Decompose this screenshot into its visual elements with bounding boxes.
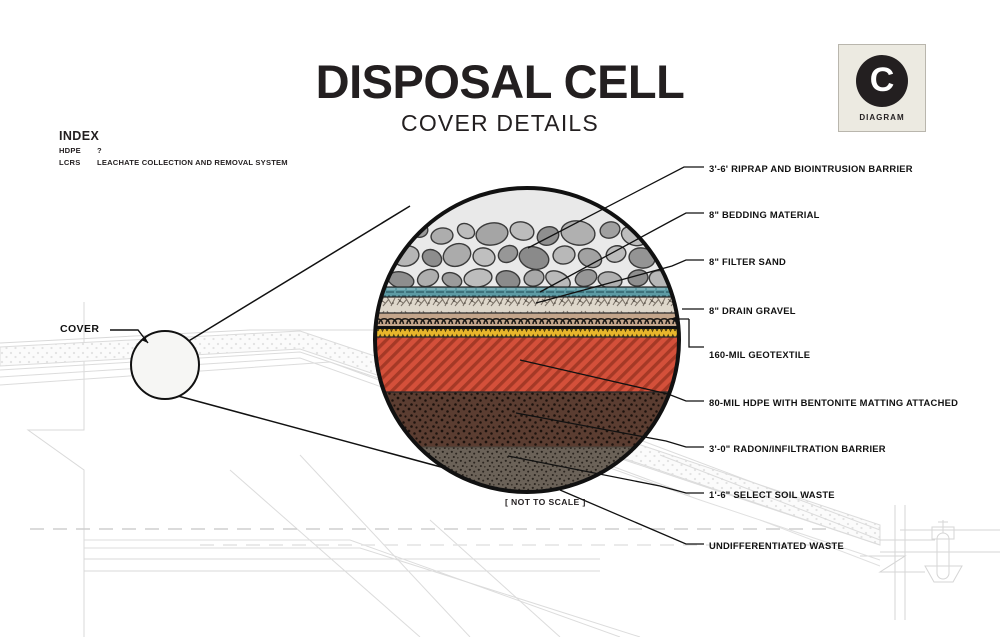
callout-select-soil-waste: 1'-6" SELECT SOIL WASTE <box>709 490 835 499</box>
callout-geotextile: 160-MIL GEOTEXTILE <box>709 350 810 359</box>
callout-undifferentiated-waste: UNDIFFERENTIATED WASTE <box>709 541 844 550</box>
cover-lens-circle <box>131 331 199 399</box>
not-to-scale-note: [ NOT TO SCALE ] <box>505 497 586 507</box>
cover-callout-label: COVER <box>60 323 99 335</box>
diagram-canvas: DISPOSAL CELL COVER DETAILS INDEX HDPE ?… <box>0 0 1000 637</box>
callout-hdpe-bentonite: 80-MIL HDPE WITH BENTONITE MATTING ATTAC… <box>709 398 958 407</box>
badge-caption: DIAGRAM <box>859 113 904 122</box>
callout-bedding-material: 8" BEDDING MATERIAL <box>709 210 820 219</box>
layer-filter-sand <box>370 297 684 313</box>
layer-hdpe-bentonite <box>370 337 684 392</box>
layer-bedding-material <box>370 287 684 297</box>
index-block: INDEX HDPE ? LCRS LEACHATE COLLECTION AN… <box>59 129 288 167</box>
layer-geotextile-bed <box>370 329 684 337</box>
index-abbr: LCRS <box>59 158 97 167</box>
cover-layer-stack <box>365 180 684 507</box>
callout-riprap: 3'-6' RIPRAP AND BIOINTRUSION BARRIER <box>709 164 913 173</box>
callout-radon-barrier: 3'-0" RADON/INFILTRATION BARRIER <box>709 444 886 453</box>
layer-radon-barrier <box>370 392 684 447</box>
index-abbr: HDPE <box>59 146 97 155</box>
layer-drain-gravel <box>370 313 684 326</box>
index-entry-lcrs: LCRS LEACHATE COLLECTION AND REMOVAL SYS… <box>59 158 288 167</box>
index-entry-hdpe: HDPE ? <box>59 146 288 155</box>
callout-filter-sand: 8" FILTER SAND <box>709 257 786 266</box>
index-definition: LEACHATE COLLECTION AND REMOVAL SYSTEM <box>97 158 288 167</box>
badge-letter-icon: C <box>856 55 908 107</box>
index-heading: INDEX <box>59 129 288 143</box>
layer-geotextile <box>370 326 684 329</box>
callout-drain-gravel: 8" DRAIN GRAVEL <box>709 306 796 315</box>
diagram-badge: C DIAGRAM <box>838 44 926 132</box>
index-definition: ? <box>97 146 102 155</box>
